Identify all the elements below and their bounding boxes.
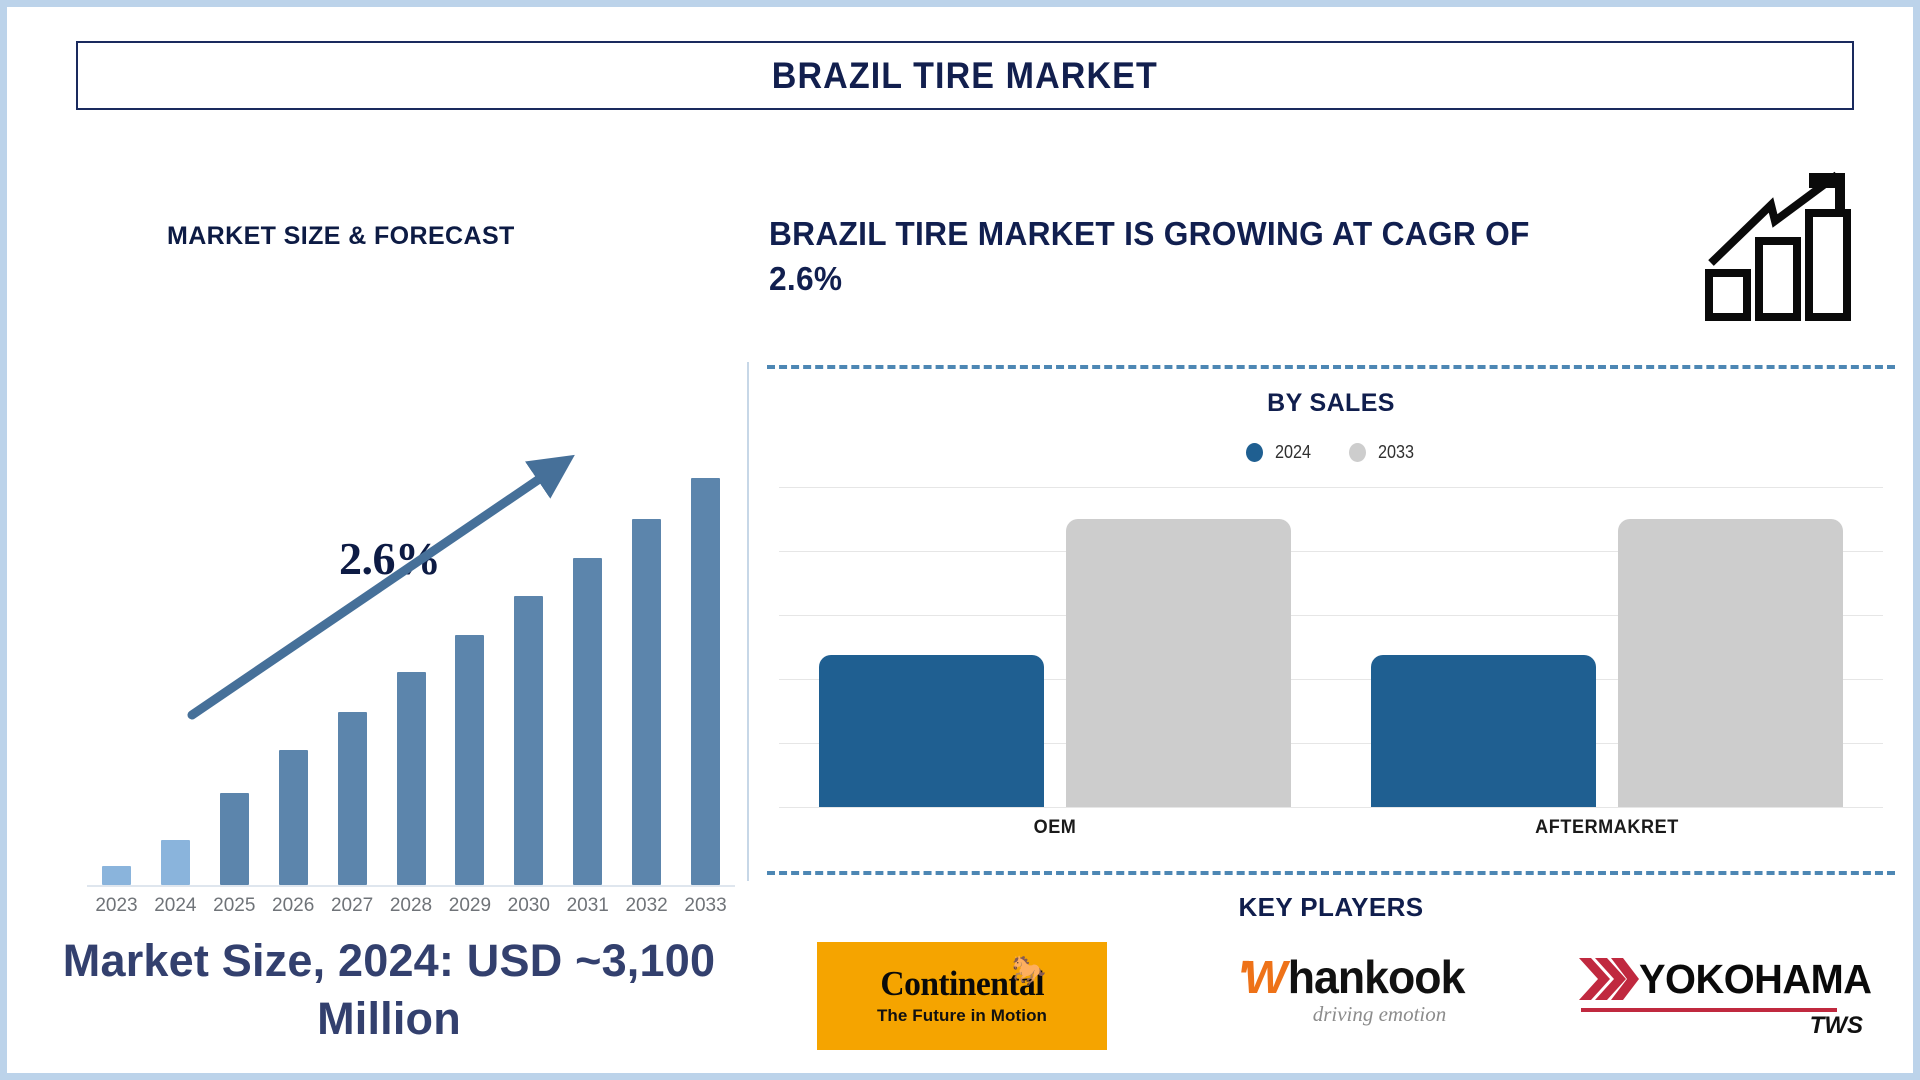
legend-label: 2024	[1275, 442, 1311, 463]
yokohama-wordmark: YOKOHAMA	[1577, 956, 1867, 1002]
panel-divider	[747, 362, 749, 881]
forecast-year-axis: 2023202420252026202720282029203020312032…	[87, 895, 735, 917]
sales-bar	[819, 655, 1044, 807]
chart-baseline	[87, 885, 735, 887]
sales-and-players-panel: BRAZIL TIRE MARKET IS GROWING AT CAGR OF…	[767, 157, 1897, 1062]
year-tick-label: 2028	[382, 895, 441, 917]
key-players-logos: Continental 🐎 The Future in Motion 'W ha…	[767, 942, 1895, 1057]
category-label: OEM	[793, 817, 1317, 839]
sales-bar	[1371, 655, 1596, 807]
page-title-box: BRAZIL TIRE MARKET	[76, 41, 1854, 110]
by-sales-heading: BY SALES	[767, 389, 1895, 418]
forecast-bar	[102, 866, 131, 885]
sales-bar	[1066, 519, 1291, 807]
category-label: AFTERMAKRET	[1345, 817, 1869, 839]
legend-color-dot	[1246, 443, 1263, 462]
forecast-bar	[161, 840, 190, 885]
growth-bar-chart-arrow-icon	[1705, 169, 1855, 321]
year-tick-label: 2027	[323, 895, 382, 917]
legend-color-dot	[1349, 443, 1366, 462]
rearing-horse-icon: 🐎	[1012, 957, 1046, 986]
hankook-w-icon: 'W	[1237, 954, 1283, 1000]
yokohama-underline	[1581, 1008, 1837, 1012]
growth-headline: BRAZIL TIRE MARKET IS GROWING AT CAGR OF…	[769, 212, 1595, 302]
forecast-bar	[397, 672, 426, 885]
sales-bars	[779, 487, 1883, 807]
forecast-bar	[279, 750, 308, 885]
year-tick-label: 2025	[205, 895, 264, 917]
forecast-bar	[338, 712, 367, 885]
yokohama-tws-label: TWS	[1810, 1012, 1863, 1040]
hankook-wordmark-text: hankook	[1288, 954, 1465, 1000]
forecast-bar	[220, 793, 249, 885]
forecast-bar	[573, 558, 602, 885]
forecast-bar	[632, 519, 661, 885]
by-sales-chart	[779, 487, 1883, 807]
key-players-heading: KEY PLAYERS	[767, 892, 1895, 923]
yokohama-chevron-icon	[1577, 956, 1639, 1002]
legend-item: 2033	[1349, 442, 1416, 463]
hankook-wordmark: 'W hankook	[1202, 954, 1502, 1000]
logo-hankook: 'W hankook driving emotion	[1202, 954, 1502, 1042]
forecast-bar	[514, 596, 543, 885]
sales-bar	[1618, 519, 1843, 807]
continental-wordmark: Continental 🐎	[880, 966, 1044, 1001]
forecast-bar	[691, 478, 720, 885]
page-title: BRAZIL TIRE MARKET	[772, 55, 1158, 97]
infographic-page: BRAZIL TIRE MARKET MARKET SIZE & FORECAS…	[0, 0, 1920, 1080]
market-size-forecast-heading: MARKET SIZE & FORECAST	[167, 222, 515, 251]
year-tick-label: 2024	[146, 895, 205, 917]
divider-bottom	[767, 871, 1895, 875]
year-tick-label: 2026	[264, 895, 323, 917]
sales-legend: 20242033	[767, 442, 1895, 463]
year-tick-label: 2023	[87, 895, 146, 917]
divider-top	[767, 365, 1895, 369]
hankook-tagline: driving emotion	[1202, 1002, 1502, 1027]
yokohama-wordmark-text: YOKOHAMA	[1639, 959, 1872, 1000]
market-size-forecast-chart	[67, 447, 735, 887]
year-tick-label: 2032	[617, 895, 676, 917]
gridline	[779, 807, 1883, 808]
legend-item: 2024	[1246, 442, 1313, 463]
year-tick-label: 2033	[676, 895, 735, 917]
year-tick-label: 2031	[558, 895, 617, 917]
logo-continental: Continental 🐎 The Future in Motion	[817, 942, 1107, 1050]
year-tick-label: 2030	[499, 895, 558, 917]
legend-label: 2033	[1378, 442, 1414, 463]
logo-yokohama: YOKOHAMA TWS	[1577, 956, 1867, 1044]
year-tick-label: 2029	[440, 895, 499, 917]
continental-tagline: The Future in Motion	[877, 1006, 1047, 1026]
forecast-bar	[455, 635, 484, 885]
market-size-value: Market Size, 2024: USD ~3,100 Million	[59, 932, 719, 1047]
market-size-forecast-panel: MARKET SIZE & FORECAST 2.6% 202320242025…	[37, 157, 747, 1062]
